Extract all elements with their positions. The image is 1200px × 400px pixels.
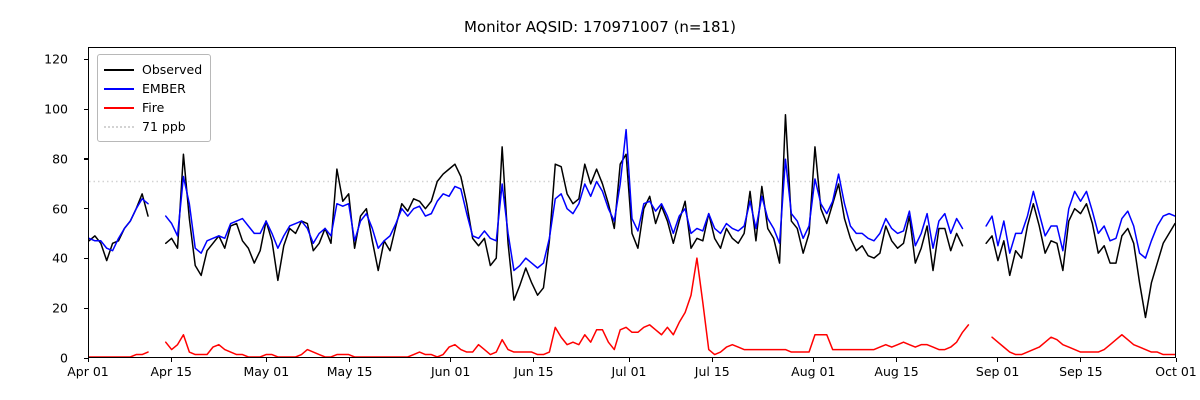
series-line-fire — [89, 352, 148, 357]
x-tick-mark — [266, 358, 267, 362]
y-tick-label: 120 — [4, 52, 78, 67]
y-tick-mark — [84, 109, 88, 110]
y-tick-mark — [84, 158, 88, 159]
x-tick-mark — [349, 358, 350, 362]
legend-label: Fire — [142, 100, 164, 115]
x-tick-mark — [1080, 358, 1081, 362]
series-line-fire — [992, 335, 1175, 355]
y-tick-mark — [84, 208, 88, 209]
chart-figure: Monitor AQSID: 170971007 (n=181) MDA8 O3… — [0, 0, 1200, 400]
series-line-ember — [166, 130, 963, 271]
x-tick-mark — [533, 358, 534, 362]
x-tick-label: Apr 01 — [67, 364, 109, 379]
legend-item-71-ppb[interactable]: 71 ppb — [104, 117, 202, 136]
x-tick-label: Sep 15 — [1059, 364, 1102, 379]
legend-swatch-icon — [104, 64, 134, 76]
legend-item-fire[interactable]: Fire — [104, 98, 202, 117]
legend-swatch-icon — [104, 83, 134, 95]
x-tick-mark — [450, 358, 451, 362]
x-tick-label: Jun 01 — [431, 364, 470, 379]
legend-swatch-icon — [104, 121, 134, 133]
x-tick-label: Apr 15 — [150, 364, 192, 379]
y-tick-mark — [84, 59, 88, 60]
legend-label: Observed — [142, 62, 202, 77]
x-tick-label: Aug 15 — [874, 364, 918, 379]
legend-label: 71 ppb — [142, 119, 186, 134]
series-line-fire — [166, 258, 969, 357]
y-tick-mark — [84, 308, 88, 309]
x-tick-label: May 15 — [327, 364, 373, 379]
x-tick-mark — [88, 358, 89, 362]
legend-item-observed[interactable]: Observed — [104, 60, 202, 79]
x-tick-label: May 01 — [243, 364, 289, 379]
chart-legend: ObservedEMBERFire71 ppb — [97, 54, 211, 142]
series-lines — [89, 115, 1175, 357]
series-line-observed — [166, 115, 963, 300]
x-tick-label: Aug 01 — [791, 364, 835, 379]
series-line-observed — [986, 204, 1175, 318]
legend-swatch-icon — [104, 102, 134, 114]
plot-area — [88, 47, 1176, 358]
x-tick-label: Jul 01 — [612, 364, 647, 379]
x-tick-label: Sep 01 — [976, 364, 1019, 379]
y-tick-label: 80 — [4, 151, 78, 166]
plot-svg — [89, 48, 1175, 357]
legend-label: EMBER — [142, 81, 186, 96]
x-tick-label: Oct 01 — [1155, 364, 1197, 379]
x-tick-label: Jun 15 — [514, 364, 553, 379]
y-tick-label: 20 — [4, 301, 78, 316]
x-tick-mark — [997, 358, 998, 362]
x-tick-mark — [171, 358, 172, 362]
y-tick-mark — [84, 258, 88, 259]
y-tick-label: 100 — [4, 102, 78, 117]
x-tick-mark — [896, 358, 897, 362]
legend-item-ember[interactable]: EMBER — [104, 79, 202, 98]
series-line-ember — [986, 191, 1175, 258]
y-tick-label: 60 — [4, 201, 78, 216]
x-tick-mark — [813, 358, 814, 362]
series-line-ember — [89, 199, 148, 251]
chart-title: Monitor AQSID: 170971007 (n=181) — [0, 18, 1200, 36]
x-tick-mark — [712, 358, 713, 362]
x-tick-mark — [629, 358, 630, 362]
x-tick-mark — [1176, 358, 1177, 362]
y-tick-label: 40 — [4, 251, 78, 266]
x-tick-label: Jul 15 — [695, 364, 730, 379]
